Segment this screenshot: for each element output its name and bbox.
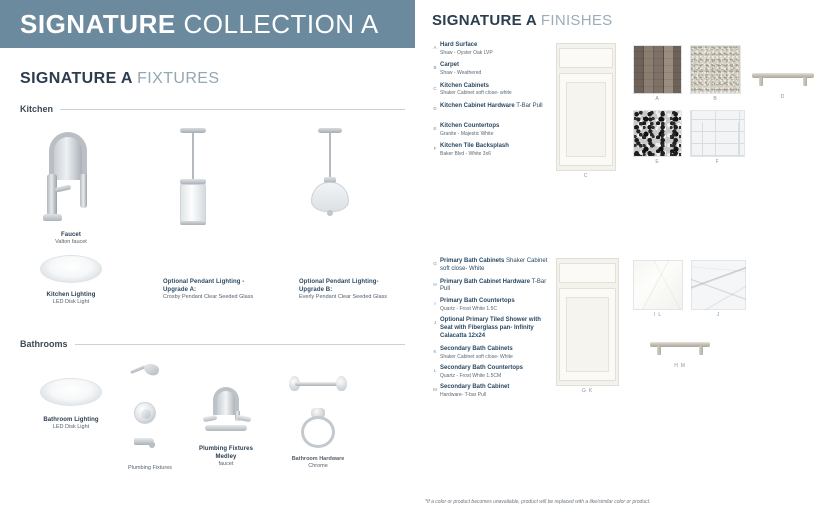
marble-image (691, 260, 746, 310)
banner-title-bold: SIGNATURE (20, 9, 176, 39)
spec-key: K (430, 346, 440, 354)
swatch-bath-cabinet: G K (556, 258, 619, 386)
spec-row: M Secondary Bath Cabinet Hardware- T-bar… (430, 384, 548, 398)
spec-name-thin: T-Bar Pull (515, 103, 543, 109)
figure-label: Bathroom Lighting (28, 416, 114, 424)
spec-desc: Shaw - Weathered (440, 70, 548, 77)
swatch-quartz: I L (633, 260, 683, 310)
spec-key: E (430, 123, 440, 131)
spec-name: Secondary Bath Cabinets (440, 346, 548, 354)
swatch-label: G K (582, 388, 593, 394)
swatch-label: B (713, 96, 717, 102)
figure-kitchen-faucet: Faucet Valton faucet (28, 130, 114, 247)
swatch-label: H M (674, 363, 686, 369)
swatch-label: C (584, 173, 588, 179)
granite-image (633, 110, 682, 157)
spec-desc: Quartz - Frost White 1.5CM (440, 373, 548, 380)
collection-sheet: SIGNATURE COLLECTION A SIGNATURE A FIXTU… (0, 0, 825, 521)
spec-key: H (430, 279, 440, 287)
spec-key: I (430, 298, 440, 306)
swatch-backsplash: F (690, 110, 745, 157)
pendant-cylinder-icon (167, 128, 219, 238)
figure-label: Faucet (28, 231, 114, 239)
spec-key: J (430, 317, 440, 325)
spec-name: Kitchen Tile Backsplash (440, 143, 548, 151)
figure-sublabel: LED Disk Light (28, 299, 114, 306)
spec-name: Carpet (440, 62, 548, 70)
spec-row: B Carpet Shaw - Weathered (430, 62, 548, 76)
spec-list-bath: G Primary Bath Cabinets Shaker Cabinet s… (430, 258, 548, 403)
swatch-hard-surface: A (633, 45, 682, 94)
spec-row: I Primary Bath Countertops Quartz - Fros… (430, 298, 548, 312)
spec-desc: Hardware- T-bar Pull (440, 392, 548, 399)
swatch-label: E (655, 159, 659, 165)
figure-sublabel: faucet (190, 461, 262, 468)
finishes-heading-light: FINISHES (541, 12, 613, 29)
kitchen-faucet-icon (41, 130, 101, 225)
figure-bathroom-lighting: Bathroom Lighting LED Disk Light (28, 378, 114, 432)
swatch-kitchen-pull: D (752, 68, 814, 88)
spec-list-kitchen: A Hard Surface Shaw - Oyster Oak LVP B C… (430, 42, 548, 161)
spec-row: G Primary Bath Cabinets Shaker Cabinet s… (430, 258, 548, 274)
collection-banner: SIGNATURE COLLECTION A (0, 0, 415, 48)
spec-name: Secondary Bath Cabinet (440, 384, 548, 392)
section-header-kitchen: Kitchen (20, 104, 405, 114)
subway-tile-image (690, 110, 745, 157)
fixtures-heading-light: FIXTURES (137, 70, 219, 87)
spec-key: B (430, 62, 440, 70)
spec-row: E Kitchen Countertops Granite - Majestic… (430, 123, 548, 137)
banner-title: SIGNATURE COLLECTION A (0, 9, 379, 40)
spec-name: Primary Bath Countertops (440, 298, 548, 306)
figure-sublabel: Crosby Pendant Clear Seeded Glass (163, 294, 255, 301)
spec-name: Optional Primary Tiled Shower with Seat … (440, 317, 548, 340)
figure-sublabel: Valton faucet (28, 239, 114, 246)
spec-name: Secondary Bath Countertops (440, 365, 548, 373)
spec-name: Primary Bath Cabinet Hardware T-Bar Pull (440, 279, 548, 295)
figure-lav-faucet: Plumbing Fixtures Medley faucet (190, 383, 262, 469)
spec-key: D (430, 103, 440, 111)
spec-desc: Shaw - Oyster Oak LVP (440, 50, 548, 57)
spec-name: Kitchen Cabinet Hardware T-Bar Pull (440, 103, 548, 111)
figure-label: Bathroom Hardware (280, 456, 356, 463)
spec-row: H Primary Bath Cabinet Hardware T-Bar Pu… (430, 279, 548, 295)
spec-row: C Kitchen Cabinets Shaker Cabinet soft c… (430, 83, 548, 97)
swatch-kitchen-cabinet: C (556, 43, 616, 171)
fixtures-heading: SIGNATURE A FIXTURES (20, 70, 219, 88)
figure-label: Optional Pendant Lighting - Upgrade A: (163, 278, 255, 294)
spec-name: Hard Surface (440, 42, 548, 50)
spec-desc: Granite - Majestic White (440, 131, 548, 138)
spec-key: M (430, 384, 440, 392)
spec-key: F (430, 143, 440, 151)
caption-pendant-b: Optional Pendant Lighting- Upgrade B: Ev… (299, 278, 391, 302)
footnote-disclaimer: *If a color or product becomes unavailab… (425, 499, 815, 505)
spec-name: Primary Bath Cabinets Shaker Cabinet sof… (440, 258, 548, 274)
spec-name: Kitchen Cabinets (440, 83, 548, 91)
spec-desc: Baker Blvd - White 3x6 (440, 151, 548, 158)
caption-pendant-a: Optional Pendant Lighting - Upgrade A: C… (163, 278, 255, 302)
figure-sublabel: Chrome (280, 463, 356, 470)
section-rule (60, 109, 405, 110)
swatch-label: J (717, 312, 720, 318)
carpet-image (690, 45, 741, 94)
pendant-schoolhouse-icon (300, 128, 360, 238)
cabinet-door-image (556, 258, 619, 386)
spec-row: A Hard Surface Shaw - Oyster Oak LVP (430, 42, 548, 56)
cabinet-door-image (556, 43, 616, 171)
spec-row: D Kitchen Cabinet Hardware T-Bar Pull (430, 103, 548, 111)
section-rule (75, 344, 405, 345)
swatch-label: D (781, 94, 785, 100)
fixtures-panel: SIGNATURE COLLECTION A SIGNATURE A FIXTU… (0, 0, 415, 521)
figure-label: Kitchen Lighting (28, 291, 114, 299)
wood-plank-image (633, 45, 682, 94)
figure-label: Plumbing Fixtures (117, 465, 183, 472)
finishes-panel: SIGNATURE A FINISHES A Hard Surface Shaw… (415, 0, 825, 521)
banner-title-light: COLLECTION A (183, 9, 378, 39)
spec-key: C (430, 83, 440, 91)
figure-bathroom-hardware: Bathroom Hardware Chrome (280, 372, 356, 471)
section-label-bathrooms: Bathrooms (20, 339, 75, 349)
figure-label: Optional Pendant Lighting- Upgrade B: (299, 278, 391, 294)
spec-row: J Optional Primary Tiled Shower with Sea… (430, 317, 548, 340)
figure-sublabel: LED Disk Light (28, 424, 114, 431)
spec-row: K Secondary Bath Cabinets Shaker Cabinet… (430, 346, 548, 360)
finishes-heading: SIGNATURE A FINISHES (432, 12, 612, 29)
spec-name: Kitchen Countertops (440, 123, 548, 131)
spec-desc: Shaker Cabinet soft close- white (440, 90, 548, 97)
figure-plumbing-fixtures: Plumbing Fixtures (117, 362, 183, 472)
shower-tub-set-icon (124, 362, 176, 457)
lav-faucet-icon (191, 383, 261, 441)
spec-key: L (430, 365, 440, 373)
spec-key: A (430, 42, 440, 50)
spec-row: L Secondary Bath Countertops Quartz - Fr… (430, 365, 548, 379)
spec-row: F Kitchen Tile Backsplash Baker Blvd - W… (430, 143, 548, 157)
spec-desc: Shaker Cabinet soft close- White (440, 354, 548, 361)
swatch-bath-pull: H M (650, 337, 710, 357)
swatch-label: F (716, 159, 720, 165)
spec-desc: Quartz - Frost White 1.5C (440, 306, 548, 313)
swatch-label: A (655, 96, 659, 102)
figure-pendant-b (294, 128, 366, 238)
figure-kitchen-lighting: Kitchen Lighting LED Disk Light (28, 255, 114, 307)
fixtures-heading-bold: SIGNATURE A (20, 70, 132, 87)
towel-ring-icon (295, 408, 341, 450)
section-label-kitchen: Kitchen (20, 104, 60, 114)
swatch-carpet: B (690, 45, 741, 94)
disk-light-icon (40, 378, 102, 408)
section-header-bathrooms: Bathrooms (20, 339, 405, 349)
figure-sublabel: Everly Pendant Clear Seeded Glass (299, 294, 391, 301)
finishes-heading-bold: SIGNATURE A (432, 12, 536, 29)
swatch-label: I L (654, 312, 662, 318)
swatch-granite: E (633, 110, 682, 157)
disk-light-icon (40, 255, 102, 285)
quartz-image (633, 260, 683, 310)
spec-key: G (430, 258, 440, 266)
figure-pendant-a (160, 128, 226, 238)
figure-label: Plumbing Fixtures Medley (190, 445, 262, 461)
towel-bar-icon (287, 372, 349, 398)
swatch-marble: J (691, 260, 746, 310)
